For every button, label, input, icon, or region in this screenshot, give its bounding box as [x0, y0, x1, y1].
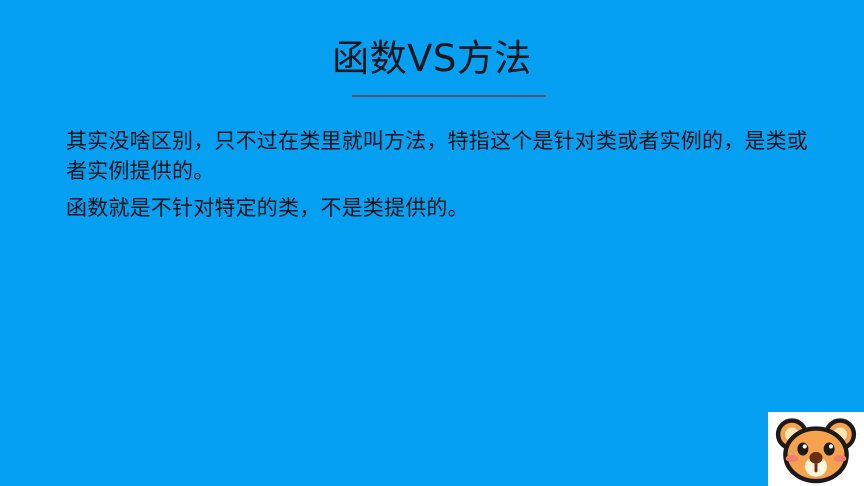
title-underline-rule [352, 95, 546, 97]
bear-mascot-icon [772, 414, 860, 484]
body-paragraph-2: 函数就是不针对特定的类，不是类提供的。 [66, 193, 808, 223]
body-text-block: 其实没啥区别，只不过在类里就叫方法，特指这个是针对类或者实例的，是类或者实例提供… [66, 126, 808, 223]
page-title: 函数VS方法 [332, 38, 532, 79]
logo-panel [768, 412, 864, 486]
presentation-slide: 函数VS方法 其实没啥区别，只不过在类里就叫方法，特指这个是针对类或者实例的，是… [0, 0, 864, 486]
body-paragraph-1: 其实没啥区别，只不过在类里就叫方法，特指这个是针对类或者实例的，是类或者实例提供… [66, 126, 808, 186]
title-block: 函数VS方法 [0, 38, 864, 79]
